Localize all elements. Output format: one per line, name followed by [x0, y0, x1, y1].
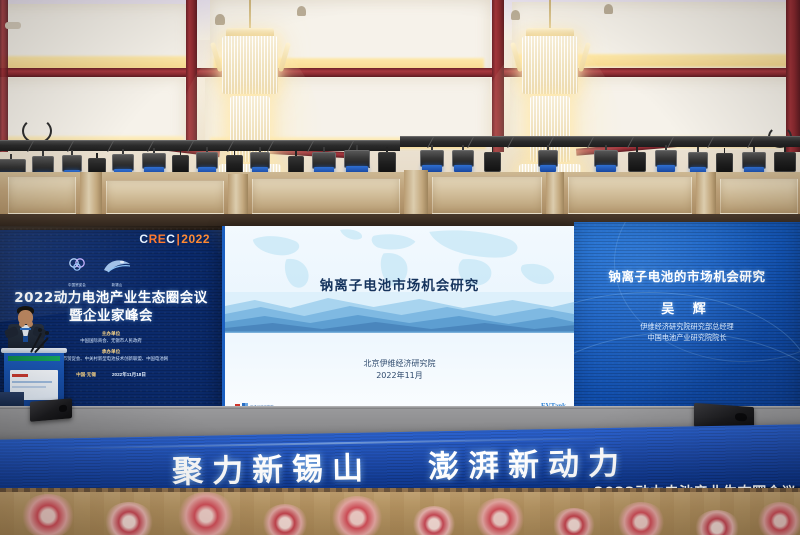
- stage-light: [378, 152, 396, 173]
- ceiling-beam: [0, 68, 800, 77]
- wall-column: [404, 170, 428, 218]
- wall-panel: [106, 180, 224, 214]
- podium-panel-line: [12, 386, 46, 388]
- stage-light: [250, 152, 270, 169]
- chandelier-arm: [278, 42, 291, 72]
- crec-divider: |: [176, 232, 180, 246]
- crec-text: C: [139, 232, 148, 246]
- speaker-role-line1: 伊维经济研究院研究部总经理: [574, 322, 800, 333]
- stage-light: [628, 152, 646, 172]
- carpet-flower: [412, 506, 456, 535]
- stage-light: [344, 150, 370, 168]
- xishan-emblem-icon: [102, 256, 132, 276]
- crec-brand: CREC|2022: [139, 232, 210, 246]
- stage-light: [420, 150, 444, 167]
- speaker-name: 吴 辉: [574, 298, 800, 317]
- stage-light: [142, 153, 166, 169]
- speaker-lanyard: [20, 328, 31, 330]
- xishan-logo: 新锡山: [102, 256, 132, 287]
- podium-green-strip: [8, 356, 61, 361]
- podium-logo-mark: [12, 374, 28, 377]
- stage-light: [452, 150, 474, 167]
- left-screen-title-line1: 2022动力电池产业生态圈会议: [0, 290, 222, 306]
- carpet-flower: [552, 508, 596, 535]
- lighting-truss-left: [0, 140, 400, 151]
- monitor-handle-icon: [735, 412, 747, 421]
- ccpit-emblem-icon: [66, 256, 88, 276]
- event-date: 2022年11月18日: [112, 372, 146, 378]
- carpet-flower: [616, 502, 666, 535]
- slide-divider: [225, 331, 574, 333]
- sponsor-logo-row: 中国贸促会 新锡山: [66, 256, 132, 287]
- conference-photo: CREC|2022 中国贸促会 新锡山 202: [0, 0, 800, 535]
- banner-slogan-left: 聚力新锡山: [172, 443, 373, 492]
- ccpit-logo: 中国贸促会: [66, 256, 88, 287]
- microphone-head: [45, 331, 49, 335]
- carpet-flower: [176, 492, 236, 535]
- wall-panel: [568, 176, 692, 214]
- carpet-flower: [104, 502, 154, 535]
- stage-floor-edge: [0, 406, 800, 409]
- xishan-caption: 新锡山: [102, 282, 132, 287]
- podium-panel-line: [12, 381, 52, 383]
- stage-light: [484, 152, 501, 172]
- right-led-screen: 钠离子电池的市场机会研究 吴 辉 伊维经济研究院研究部总经理 中国电池产业研究院…: [574, 222, 800, 422]
- stage-light: [312, 152, 336, 169]
- banner-slogan-right: 澎湃新动力: [428, 438, 629, 487]
- carpet-flower: [20, 494, 76, 535]
- carpet-flower: [262, 504, 308, 535]
- wall-panel: [432, 176, 542, 214]
- stage-light: [196, 152, 218, 169]
- chandelier-tier: [522, 36, 578, 94]
- chandelier-chain: [249, 0, 251, 30]
- ccpit-caption: 中国贸促会: [66, 282, 88, 287]
- wall-panel: [252, 178, 400, 214]
- stage-light: [655, 150, 677, 167]
- stage-light: [688, 152, 708, 169]
- wall-column: [80, 172, 102, 218]
- carpet-border: [0, 488, 800, 492]
- monitor-handle-icon: [59, 404, 67, 412]
- stage-light: [62, 155, 82, 172]
- speaker-role-line2: 中国电池产业研究院院长: [574, 333, 800, 344]
- stage-light: [538, 150, 558, 167]
- ceiling-speaker: [604, 4, 613, 14]
- carpet-flower: [756, 502, 800, 535]
- stage-light: [112, 154, 134, 171]
- floor-carpet: [0, 488, 800, 535]
- lighting-truss-right: [400, 136, 800, 147]
- microphone-head: [38, 328, 42, 332]
- chandelier-crown: [226, 28, 274, 36]
- event-location: 中国·无锡: [76, 372, 96, 378]
- mountain-graphic: [225, 292, 574, 332]
- stage-light: [716, 153, 733, 173]
- wall-column: [228, 174, 248, 218]
- slide-footer-date: 2022年11月: [225, 370, 574, 382]
- wall-panel: [8, 176, 76, 214]
- carpet-flower: [474, 498, 526, 535]
- wall-panel: [720, 178, 798, 214]
- right-screen-title: 钠离子电池的市场机会研究: [574, 266, 800, 285]
- crec-text2: C: [166, 232, 175, 246]
- stage-light: [774, 152, 796, 172]
- ceiling-beam: [186, 0, 197, 152]
- wall-column: [546, 172, 564, 218]
- slide-title: 钠离子电池市场机会研究: [225, 274, 574, 294]
- crec-accent: RE: [149, 232, 167, 246]
- speaker-hand-left: [19, 321, 25, 327]
- ceiling-sensor: [5, 22, 21, 29]
- chandelier-tier: [222, 36, 278, 94]
- stage-light: [742, 152, 766, 169]
- speaker-badge: [23, 336, 28, 342]
- stage-light: [594, 150, 618, 167]
- center-presentation-screen: 钠离子电池市场机会研究 北京伊维经济研究院 2022年11月 伊维经济研究院 E…: [222, 226, 574, 416]
- chandelier-arm: [578, 42, 591, 72]
- carpet-flower: [330, 496, 384, 535]
- chandelier-chain: [549, 0, 551, 30]
- speaker-hand-right: [27, 321, 33, 327]
- slide-footer-org: 北京伊维经济研究院: [225, 358, 574, 370]
- stage-monitor-left: [30, 398, 72, 422]
- wall-column: [696, 172, 716, 218]
- stage-equipment: [0, 392, 24, 406]
- chandelier-crown: [526, 28, 574, 36]
- crec-year: 2022: [181, 232, 210, 246]
